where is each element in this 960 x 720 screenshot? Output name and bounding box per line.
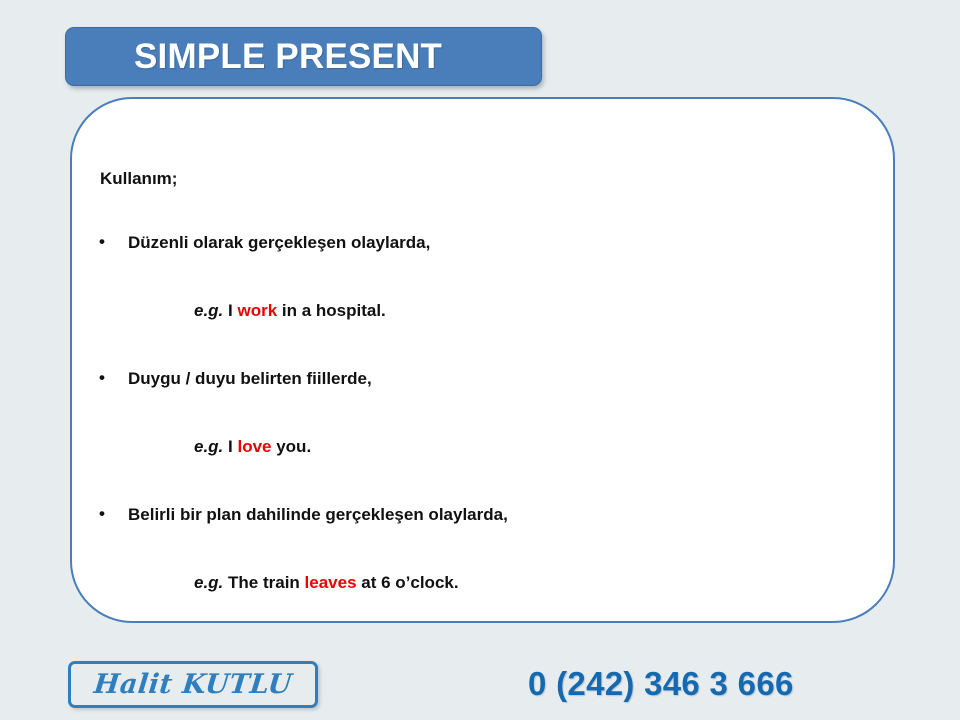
example-before: I [223,301,237,320]
example-line: e.g. I love you. [99,437,873,457]
rule-text: Belirli bir plan dahilinde gerçekleşen o… [128,505,508,525]
list-item: • Düzenli olarak gerçekleşen olaylarda, [99,233,873,253]
bullet-icon: • [99,369,128,388]
phone-number: 0 (242) 346 3 666 [528,665,794,703]
list-item: • Belirli bir plan dahilinde gerçekleşen… [99,505,873,525]
logo: Halit KUTLU [68,661,318,708]
usage-heading: Kullanım; [99,169,873,189]
rule-block: • Duygu / duyu belirten fiillerde, e.g. … [99,369,873,457]
slide-title-banner: SIMPLE PRESENT [65,27,542,86]
example-after: in a hospital. [277,301,386,320]
example-line: e.g. The train leaves at 6 o’clock. [99,573,873,593]
logo-text: Halit KUTLU [92,669,293,700]
example-highlight-verb: love [237,437,271,456]
bullet-icon: • [99,233,128,252]
rule-text: Duygu / duyu belirten fiillerde, [128,369,372,389]
example-label: e.g. [194,437,223,456]
example-after: you. [272,437,312,456]
rule-block: • Belirli bir plan dahilinde gerçekleşen… [99,505,873,593]
page-title: SIMPLE PRESENT [134,37,442,77]
content-panel: Kullanım; • Düzenli olarak gerçekleşen o… [70,97,895,623]
rule-text: Düzenli olarak gerçekleşen olaylarda, [128,233,430,253]
list-item: • Duygu / duyu belirten fiillerde, [99,369,873,389]
example-label: e.g. [194,573,223,592]
example-before: I [223,437,237,456]
bullet-icon: • [99,505,128,524]
example-line: e.g. I work in a hospital. [99,301,873,321]
rule-block: • Düzenli olarak gerçekleşen olaylarda, … [99,233,873,321]
content-body: Kullanım; • Düzenli olarak gerçekleşen o… [99,169,873,593]
example-highlight-verb: work [237,301,277,320]
example-highlight-verb: leaves [305,573,357,592]
example-before: The train [223,573,304,592]
example-after: at 6 o’clock. [357,573,459,592]
example-label: e.g. [194,301,223,320]
